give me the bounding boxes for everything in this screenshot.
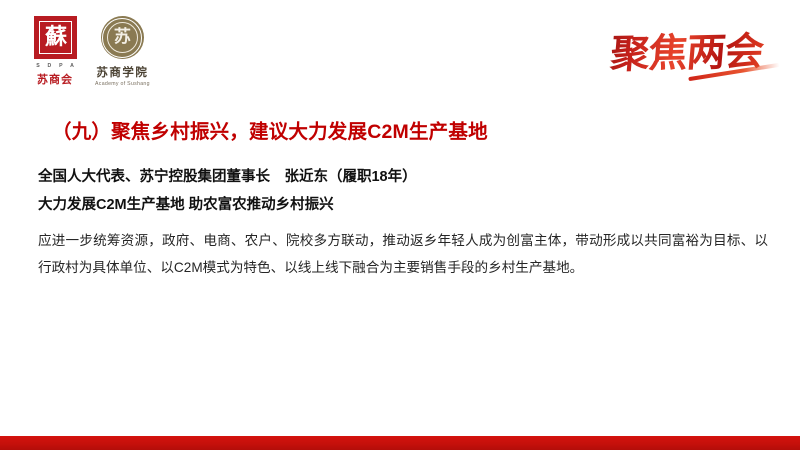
logo-academy-of-sushang: 苏 苏商学院 Academy of Sushang <box>95 16 150 87</box>
sdpa-seal-glyph: 蘇 <box>34 16 77 59</box>
academy-emblem-glyph: 苏 <box>101 16 144 59</box>
calligraphy-text: 聚焦两会 <box>589 12 785 88</box>
academy-chinese-name: 苏商学院 <box>96 64 148 80</box>
sdpa-chinese-name: 苏商会 <box>37 71 73 87</box>
sdpa-seal-icon: 蘇 <box>34 16 77 59</box>
sdpa-latin-letters: S D P A <box>33 63 77 69</box>
academy-circle-icon: 苏 <box>101 16 144 59</box>
calligraphy-artwork: 聚焦两会 <box>592 14 782 86</box>
content-block: 全国人大代表、苏宁控股集团董事长 张近东（履职18年） 大力发展C2M生产基地 … <box>38 163 768 281</box>
page-title: （九）聚焦乡村振兴，建议大力发展C2M生产基地 <box>52 115 488 144</box>
logo-sdpa: 蘇 S D P A 苏商会 <box>33 16 77 87</box>
bottom-accent-bar <box>0 436 800 450</box>
proposal-line: 大力发展C2M生产基地 助农富农推动乡村振兴 <box>38 191 768 219</box>
slide-canvas: 蘇 S D P A 苏商会 苏 苏商学院 Academy of Sushang … <box>0 0 800 450</box>
header-logo-group: 蘇 S D P A 苏商会 苏 苏商学院 Academy of Sushang <box>33 16 150 87</box>
academy-english-name: Academy of Sushang <box>95 81 150 87</box>
body-paragraph: 应进一步统筹资源，政府、电商、农户、院校多方联动，推动返乡年轻人成为创富主体，带… <box>38 228 768 281</box>
speaker-line: 全国人大代表、苏宁控股集团董事长 张近东（履职18年） <box>38 163 768 191</box>
